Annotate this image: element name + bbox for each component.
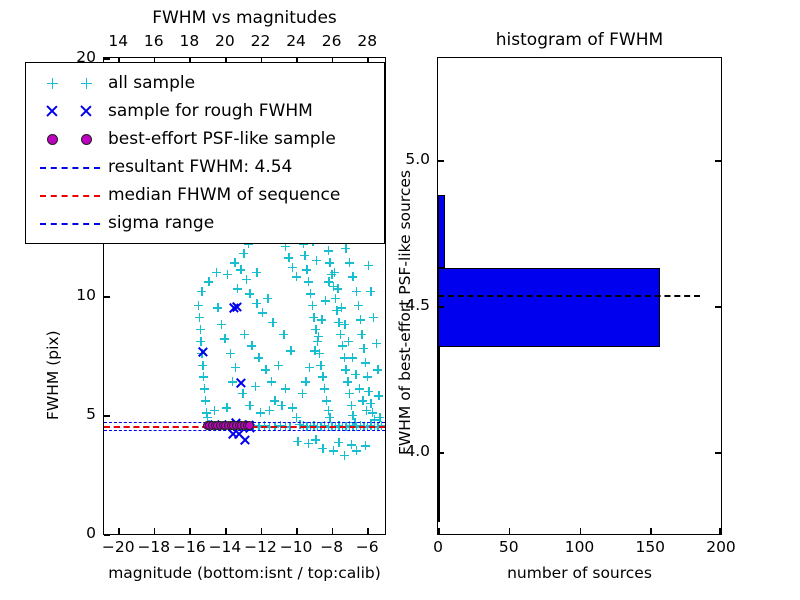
all-sample-point: [284, 253, 293, 262]
legend-marker: [34, 210, 108, 236]
all-sample-point: [374, 391, 383, 400]
all-sample-point: [355, 384, 364, 393]
all-sample-point: [212, 268, 221, 277]
all-sample-point: [286, 346, 295, 355]
all-sample-point: [239, 249, 248, 258]
all-sample-point: [331, 294, 340, 303]
all-sample-point: [261, 365, 270, 374]
all-sample-point: [223, 270, 232, 279]
all-sample-point: [204, 277, 213, 286]
axis-tick: [650, 528, 652, 534]
all-sample-point: [302, 265, 311, 274]
all-sample-point: [316, 361, 325, 370]
legend-marker: [34, 126, 108, 152]
all-sample-point: [356, 315, 365, 324]
all-sample-point: [288, 403, 297, 412]
all-sample-point: [217, 320, 226, 329]
axis-tick: [118, 528, 120, 534]
all-sample-point: [318, 444, 327, 453]
rough-fwhm-point: [197, 346, 208, 357]
rough-fwhm-point: [239, 434, 250, 445]
rough-fwhm-point: [235, 377, 246, 388]
all-sample-point: [322, 396, 331, 405]
all-sample-point: [301, 377, 310, 386]
circle-marker: [81, 134, 92, 145]
legend-label: sigma range: [108, 215, 214, 232]
rough-fwhm-point: [228, 302, 239, 313]
axis-tick: [509, 528, 511, 534]
all-sample-point: [318, 372, 327, 381]
all-sample-point: [201, 396, 210, 405]
left-yaxis-label: FWHM (pix): [46, 330, 62, 420]
all-sample-point: [324, 246, 333, 255]
legend-item[interactable]: sigma range: [34, 209, 374, 237]
figure-canvas: FWHM vs magnitudes −20−18−16−14−12−10−8−…: [0, 0, 800, 600]
right-xaxis-label: number of sources: [437, 566, 722, 582]
legend-marker: [34, 182, 108, 208]
all-sample-point: [200, 384, 209, 393]
all-sample-point: [298, 389, 307, 398]
all-sample-point: [231, 363, 240, 372]
dashed-line: [40, 167, 100, 169]
all-sample-point: [366, 287, 375, 296]
all-sample-point: [252, 299, 261, 308]
all-sample-point: [288, 263, 297, 272]
all-sample-point: [293, 437, 302, 446]
circle-marker: [47, 134, 58, 145]
axis-tick: [715, 160, 721, 162]
legend-marker: [34, 154, 108, 180]
all-sample-point: [337, 303, 346, 312]
left-xaxis-label: magnitude (bottom:isnt / top:calib): [103, 566, 386, 582]
all-sample-point: [292, 272, 301, 281]
legend-item[interactable]: sample for rough FWHM: [34, 97, 374, 125]
axis-tick: [225, 528, 227, 534]
axis-tick: [719, 528, 721, 534]
legend-marker: [34, 70, 108, 96]
all-sample-point: [226, 349, 235, 358]
all-sample-point: [245, 401, 254, 410]
axis-tick: [715, 306, 721, 308]
dashed-line: [40, 195, 100, 197]
all-sample-point: [358, 396, 367, 405]
all-sample-point: [340, 320, 349, 329]
all-sample-point: [238, 389, 247, 398]
all-sample-point: [361, 358, 370, 367]
legend-marker: [34, 98, 108, 124]
cross-marker: [80, 105, 92, 117]
all-sample-point: [317, 315, 326, 324]
right-panel-title: histogram of FWHM: [437, 32, 722, 49]
histogram-bar: [438, 268, 660, 347]
axis-tick-label: 28: [327, 34, 407, 50]
all-sample-point: [305, 363, 314, 372]
all-sample-point: [306, 289, 315, 298]
all-sample-point: [220, 334, 229, 343]
all-sample-point: [252, 268, 261, 277]
all-sample-point: [340, 451, 349, 460]
all-sample-point: [320, 384, 329, 393]
all-sample-point: [222, 403, 231, 412]
legend-item[interactable]: resultant FWHM: 4.54: [34, 153, 374, 181]
all-sample-point: [258, 308, 267, 317]
legend-label: median FHWM of sequence: [108, 187, 340, 204]
all-sample-point: [324, 277, 333, 286]
all-sample-point: [364, 387, 373, 396]
dashdot-line: [40, 223, 100, 225]
axis-tick: [261, 528, 263, 534]
axis-tick-label: 100: [540, 540, 620, 556]
all-sample-point: [267, 377, 276, 386]
all-sample-point: [325, 258, 334, 267]
all-sample-point: [351, 370, 360, 379]
all-sample-point: [251, 382, 260, 391]
histogram-median-line: [438, 295, 700, 297]
axis-tick-label: 50: [469, 540, 549, 556]
all-sample-point: [274, 361, 283, 370]
all-sample-point: [194, 301, 203, 310]
all-sample-point: [373, 365, 382, 374]
all-sample-point: [277, 401, 286, 410]
all-sample-point: [333, 284, 342, 293]
all-sample-point: [198, 361, 207, 370]
axis-tick: [715, 452, 721, 454]
legend-label: best-effort PSF-like sample: [108, 131, 336, 148]
sigma-range-lower-line: [104, 430, 385, 431]
plus-marker: [47, 78, 58, 89]
all-sample-point: [329, 446, 338, 455]
all-sample-point: [359, 344, 368, 353]
axis-tick: [189, 528, 191, 534]
all-sample-point: [279, 330, 288, 339]
all-sample-point: [242, 275, 251, 284]
all-sample-point: [352, 287, 361, 296]
axis-tick: [296, 528, 298, 534]
all-sample-point: [196, 325, 205, 334]
axis-tick: [367, 528, 369, 534]
axis-tick: [438, 452, 444, 454]
all-sample-point: [348, 272, 357, 281]
all-sample-point: [369, 313, 378, 322]
all-sample-point: [314, 332, 323, 341]
all-sample-point: [364, 261, 373, 270]
axis-tick-label: 200: [681, 540, 761, 556]
axis-tick-label: 150: [610, 540, 690, 556]
axis-tick: [580, 528, 582, 534]
histogram-bar: [438, 347, 440, 522]
axis-tick: [104, 415, 110, 417]
all-sample-point: [330, 268, 339, 277]
all-sample-point: [247, 341, 256, 350]
all-sample-point: [263, 294, 272, 303]
all-sample-point: [321, 296, 330, 305]
plus-marker: [81, 78, 92, 89]
axis-tick: [154, 528, 156, 534]
all-sample-point: [348, 353, 357, 362]
right-yaxis-label: FWHM of best-effort PSF-like sources: [398, 170, 414, 455]
all-sample-point: [236, 265, 245, 274]
legend-item[interactable]: median FHWM of sequence: [34, 181, 374, 209]
all-sample-point: [197, 287, 206, 296]
all-sample-point: [362, 406, 371, 415]
all-sample-point: [308, 301, 317, 310]
histogram-area: [438, 58, 721, 534]
all-sample-point: [345, 389, 354, 398]
all-sample-point: [196, 337, 205, 346]
axis-tick: [104, 534, 110, 536]
all-sample-point: [344, 337, 353, 346]
axis-tick: [438, 160, 444, 162]
all-sample-point: [268, 318, 277, 327]
all-sample-point: [341, 365, 350, 374]
axis-tick: [332, 528, 334, 534]
all-sample-point: [341, 244, 350, 253]
all-sample-point: [256, 408, 265, 417]
all-sample-point: [304, 277, 313, 286]
all-sample-point: [245, 289, 254, 298]
all-sample-point: [311, 435, 320, 444]
axis-tick-label: 0: [398, 540, 478, 556]
all-sample-point: [213, 303, 222, 312]
axis-tick: [438, 306, 444, 308]
all-sample-point: [334, 438, 343, 447]
all-sample-point: [233, 284, 242, 293]
cross-marker: [46, 105, 58, 117]
left-panel-title: FWHM vs magnitudes: [103, 10, 386, 27]
all-sample-point: [372, 339, 381, 348]
axis-tick: [104, 58, 110, 60]
legend-box: all samplesample for rough FWHMbest-effo…: [25, 62, 385, 244]
histogram-bar: [438, 195, 445, 268]
axis-tick-label: 4.0: [350, 444, 430, 460]
axis-tick-label: −6: [327, 540, 407, 556]
legend-label: all sample: [108, 75, 195, 92]
all-sample-point: [281, 384, 290, 393]
all-sample-point: [254, 353, 263, 362]
legend-item[interactable]: all sample: [34, 69, 374, 97]
all-sample-point: [345, 258, 354, 267]
axis-tick-label: 10: [16, 288, 96, 304]
all-sample-point: [199, 372, 208, 381]
all-sample-point: [363, 372, 372, 381]
legend-label: resultant FWHM: 4.54: [108, 159, 292, 176]
all-sample-point: [240, 330, 249, 339]
legend-item[interactable]: best-effort PSF-like sample: [34, 125, 374, 153]
all-sample-point: [347, 401, 356, 410]
all-sample-point: [310, 346, 319, 355]
all-sample-point: [265, 406, 274, 415]
axis-tick-label: 0: [16, 526, 96, 542]
axis-tick: [104, 296, 110, 298]
legend-label: sample for rough FWHM: [108, 103, 313, 120]
all-sample-point: [312, 256, 321, 265]
all-sample-point: [357, 330, 366, 339]
all-sample-point: [195, 313, 204, 322]
axis-tick-label: 4.5: [350, 298, 430, 314]
all-sample-point: [300, 251, 309, 260]
axis-tick: [438, 528, 440, 534]
